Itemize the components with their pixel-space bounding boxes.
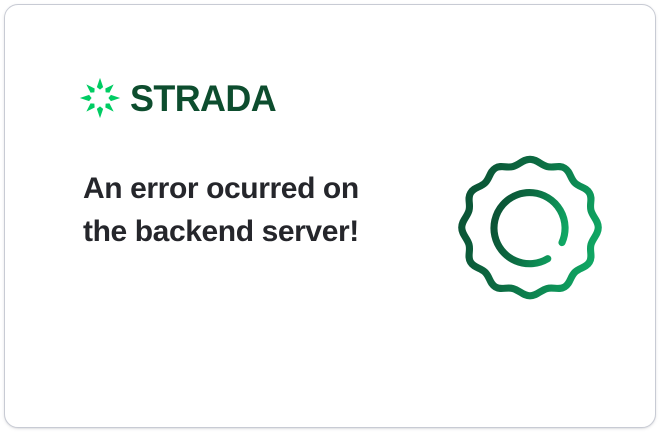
gear-cog-icon — [451, 149, 609, 307]
strada-asterisk-star-icon — [79, 77, 121, 119]
error-message-text: An error ocurred on the backend server! — [83, 167, 383, 253]
brand-lockup: STRADA — [79, 73, 281, 123]
error-card: STRADA An error ocurred on the backend s… — [4, 4, 656, 428]
brand-wordmark: STRADA — [130, 80, 276, 117]
